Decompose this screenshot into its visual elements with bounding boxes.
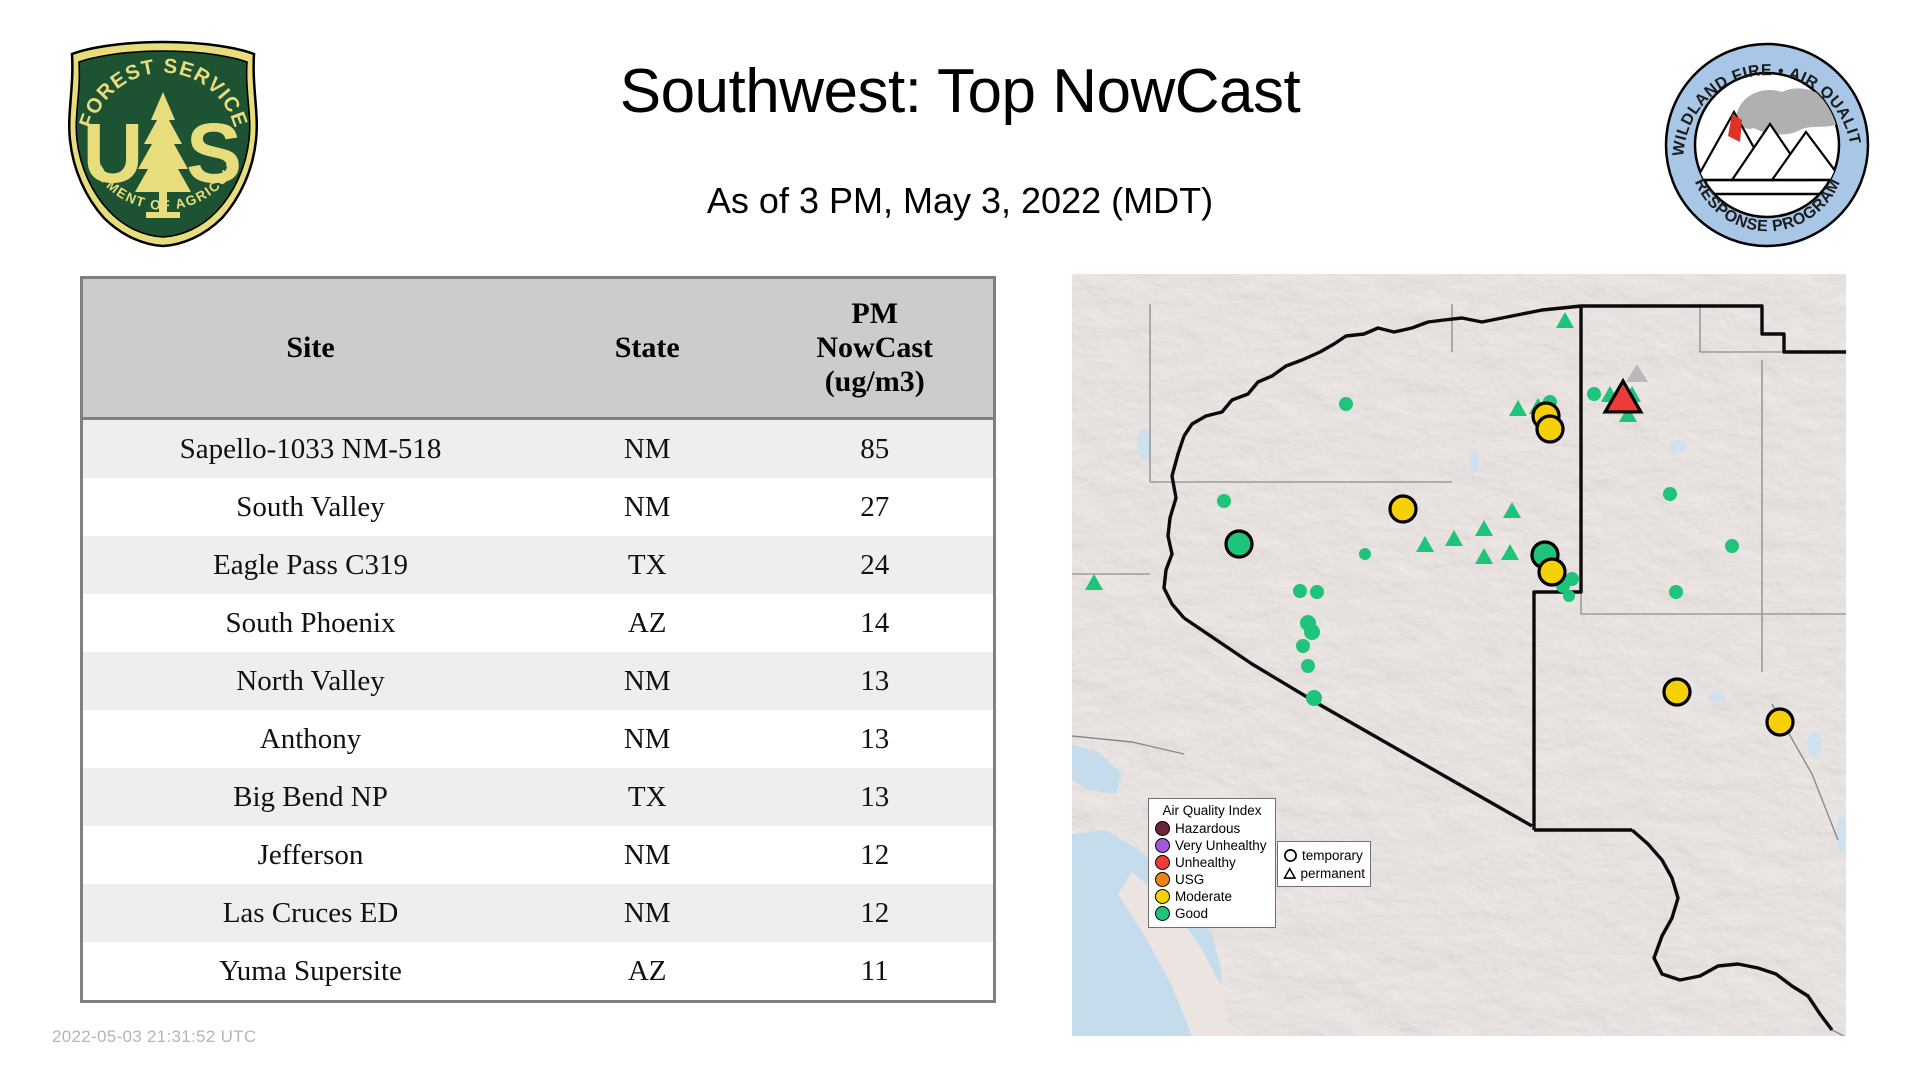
table-header-row: Site State PM NowCast (ug/m3) (83, 279, 993, 419)
aqi-legend-label: Hazardous (1175, 822, 1240, 836)
pm-cell: 85 (756, 419, 993, 479)
aqi-legend-item: Moderate (1155, 888, 1269, 905)
state-cell: NM (538, 652, 756, 710)
map-marker-eagle-pass-c319[interactable] (1767, 709, 1793, 735)
aqi-legend-label: Good (1175, 907, 1208, 921)
state-cell: AZ (538, 594, 756, 652)
page-title: Southwest: Top NowCast (0, 56, 1920, 127)
map-marker-south-phoenix[interactable] (1390, 496, 1416, 522)
table-row[interactable]: Yuma SupersiteAZ11 (83, 942, 993, 1000)
aqi-legend: Air Quality Index HazardousVery Unhealth… (1148, 798, 1276, 928)
pm-cell: 13 (756, 768, 993, 826)
table-row[interactable]: JeffersonNM12 (83, 826, 993, 884)
column-header-pm-nowcast[interactable]: PM NowCast (ug/m3) (756, 279, 993, 419)
column-header-state[interactable]: State (538, 279, 756, 419)
map-marker-south-valley[interactable] (1537, 416, 1563, 442)
legend-permanent-row: permanent (1283, 864, 1365, 882)
air-quality-map[interactable]: Air Quality Index HazardousVery Unhealth… (1072, 274, 1846, 1036)
aqi-legend-label: Unhealthy (1175, 856, 1236, 870)
aqi-legend-item: Very Unhealthy (1155, 837, 1269, 854)
aqi-swatch-icon (1155, 889, 1170, 904)
aqi-legend-item: USG (1155, 871, 1269, 888)
aqi-swatch-icon (1155, 872, 1170, 887)
pm-line-3: (ug/m3) (760, 365, 989, 399)
site-cell: Jefferson (83, 826, 538, 884)
aqi-legend-rows: HazardousVery UnhealthyUnhealthyUSGModer… (1155, 820, 1269, 922)
pm-cell: 13 (756, 710, 993, 768)
state-cell: NM (538, 826, 756, 884)
page-subtitle: As of 3 PM, May 3, 2022 (MDT) (0, 180, 1920, 222)
pm-cell: 12 (756, 826, 993, 884)
aqi-legend-item: Hazardous (1155, 820, 1269, 837)
site-cell: Las Cruces ED (83, 884, 538, 942)
aqi-legend-title: Air Quality Index (1155, 803, 1269, 818)
table-body: Sapello-1033 NM-518NM85South ValleyNM27E… (83, 419, 993, 1001)
aqi-swatch-icon (1155, 838, 1170, 853)
map-marker-anthony[interactable] (1539, 559, 1565, 585)
state-cell: TX (538, 768, 756, 826)
aqi-legend-label: Very Unhealthy (1175, 839, 1267, 853)
site-cell: Anthony (83, 710, 538, 768)
site-cell: Sapello-1033 NM-518 (83, 419, 538, 479)
legend-permanent-label: permanent (1300, 866, 1365, 881)
nowcast-table-container: Site State PM NowCast (ug/m3) Sapello-10… (80, 276, 996, 1003)
pm-cell: 11 (756, 942, 993, 1000)
state-cell: NM (538, 710, 756, 768)
map-marker-big-bend-np[interactable] (1664, 679, 1690, 705)
state-cell: NM (538, 884, 756, 942)
aqi-swatch-icon (1155, 821, 1170, 836)
column-header-site[interactable]: Site (83, 279, 538, 419)
table-row[interactable]: AnthonyNM13 (83, 710, 993, 768)
pm-cell: 14 (756, 594, 993, 652)
monitor-type-legend: temporary permanent (1277, 841, 1371, 887)
aqi-swatch-icon (1155, 855, 1170, 870)
pm-cell: 24 (756, 536, 993, 594)
site-cell: North Valley (83, 652, 538, 710)
pm-cell: 27 (756, 478, 993, 536)
legend-temporary-label: temporary (1302, 848, 1363, 863)
table-row[interactable]: North ValleyNM13 (83, 652, 993, 710)
state-cell: TX (538, 536, 756, 594)
state-cell: NM (538, 478, 756, 536)
legend-temporary-row: temporary (1283, 846, 1365, 864)
pm-cell: 12 (756, 884, 993, 942)
table-row[interactable]: South ValleyNM27 (83, 478, 993, 536)
pm-line-2: NowCast (760, 331, 989, 365)
triangle-outline-icon (1283, 866, 1296, 881)
aqi-swatch-icon (1155, 906, 1170, 921)
pm-cell: 13 (756, 652, 993, 710)
table-row[interactable]: Eagle Pass C319TX24 (83, 536, 993, 594)
table-row[interactable]: Las Cruces EDNM12 (83, 884, 993, 942)
state-cell: NM (538, 419, 756, 479)
footer-timestamp: 2022-05-03 21:31:52 UTC (52, 1027, 256, 1047)
table-row[interactable]: South PhoenixAZ14 (83, 594, 993, 652)
aqi-legend-label: USG (1175, 873, 1204, 887)
map-marker-yuma-supersite[interactable] (1226, 531, 1252, 557)
site-cell: Yuma Supersite (83, 942, 538, 1000)
aqi-legend-label: Moderate (1175, 890, 1232, 904)
site-cell: South Phoenix (83, 594, 538, 652)
state-cell: AZ (538, 942, 756, 1000)
circle-outline-icon (1283, 848, 1298, 863)
site-cell: South Valley (83, 478, 538, 536)
site-cell: Big Bend NP (83, 768, 538, 826)
aqi-legend-item: Unhealthy (1155, 854, 1269, 871)
table-row[interactable]: Big Bend NPTX13 (83, 768, 993, 826)
nowcast-table: Site State PM NowCast (ug/m3) Sapello-10… (83, 279, 993, 1000)
pm-line-1: PM (760, 297, 989, 331)
site-cell: Eagle Pass C319 (83, 536, 538, 594)
table-row[interactable]: Sapello-1033 NM-518NM85 (83, 419, 993, 479)
aqi-legend-item: Good (1155, 905, 1269, 922)
